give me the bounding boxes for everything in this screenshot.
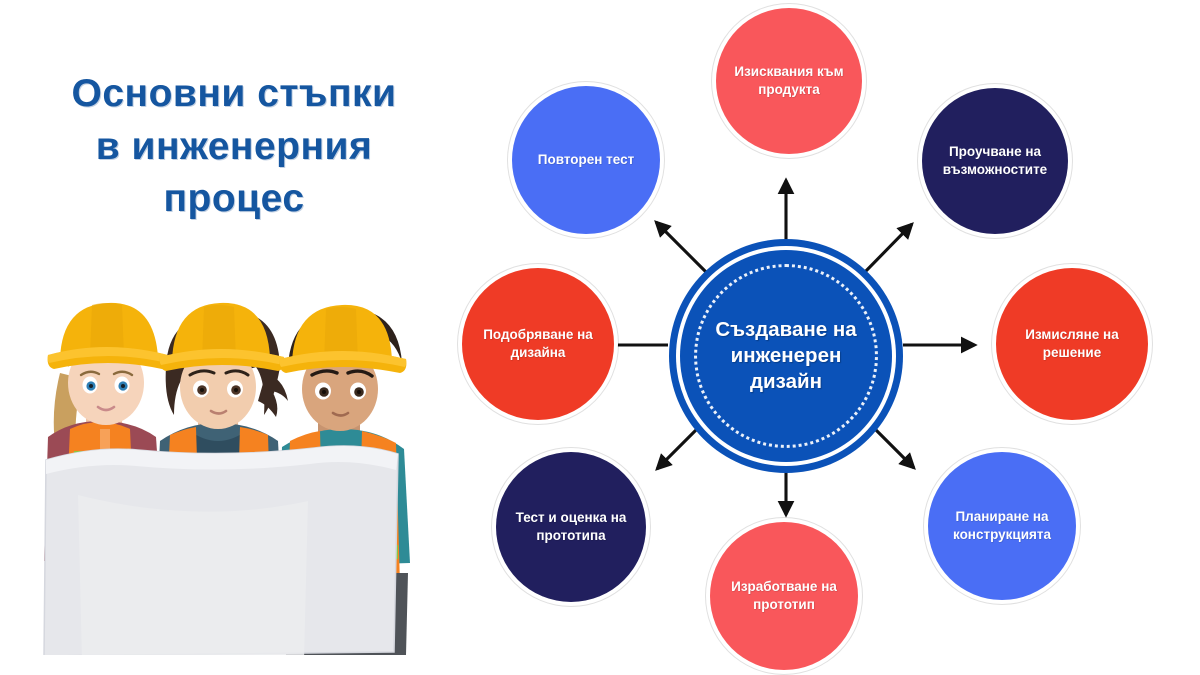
hub-label: Създаване на инженерен дизайн (699, 317, 874, 394)
node-label: Повторен тест (526, 151, 646, 169)
node-feasibility-study[interactable]: Проучване на възможностите (922, 88, 1068, 234)
node-build-prototype[interactable]: Изработване на прототип (710, 522, 858, 670)
engineering-process-diagram: Създаване на инженерен дизайн Изисквания… (440, 0, 1200, 675)
arrow-up-right (863, 224, 912, 274)
node-construction-planning[interactable]: Планиране на конструкцията (928, 452, 1076, 600)
slide-canvas: Основни стъпки в инженерния процес (0, 0, 1200, 675)
page-title-line-2: в инженерния (96, 125, 373, 168)
node-test-and-evaluate-prototype[interactable]: Тест и оценка на прототипа (496, 452, 646, 602)
page-title-line-3: процес (163, 177, 304, 220)
node-label: Измисляне на решение (1010, 326, 1134, 362)
node-label: Изработване на прототип (724, 578, 844, 614)
arrow-down-right (864, 418, 914, 468)
page-title: Основни стъпки в инженерния процес (34, 68, 434, 226)
node-improve-design[interactable]: Подобряване на дизайна (462, 268, 614, 420)
node-label: Подобряване на дизайна (476, 326, 600, 362)
arrow-up-left (656, 222, 708, 274)
node-solution-ideation[interactable]: Измисляне на решение (996, 268, 1148, 420)
page-title-line-1: Основни стъпки (71, 72, 396, 115)
node-label: Проучване на възможностите (936, 143, 1054, 179)
blueprint-sheet (44, 446, 398, 655)
workers-svg (18, 255, 428, 655)
three-construction-workers-illustration (18, 255, 428, 655)
node-product-requirements[interactable]: Изисквания към продукта (716, 8, 862, 154)
hub-node[interactable]: Създаване на инженерен дизайн (680, 250, 892, 462)
node-retest[interactable]: Повторен тест (512, 86, 660, 234)
node-label: Планиране на конструкцията (942, 508, 1062, 544)
node-label: Тест и оценка на прототипа (510, 509, 632, 545)
node-label: Изисквания към продукта (730, 63, 848, 99)
arrow-down-left (657, 418, 708, 469)
